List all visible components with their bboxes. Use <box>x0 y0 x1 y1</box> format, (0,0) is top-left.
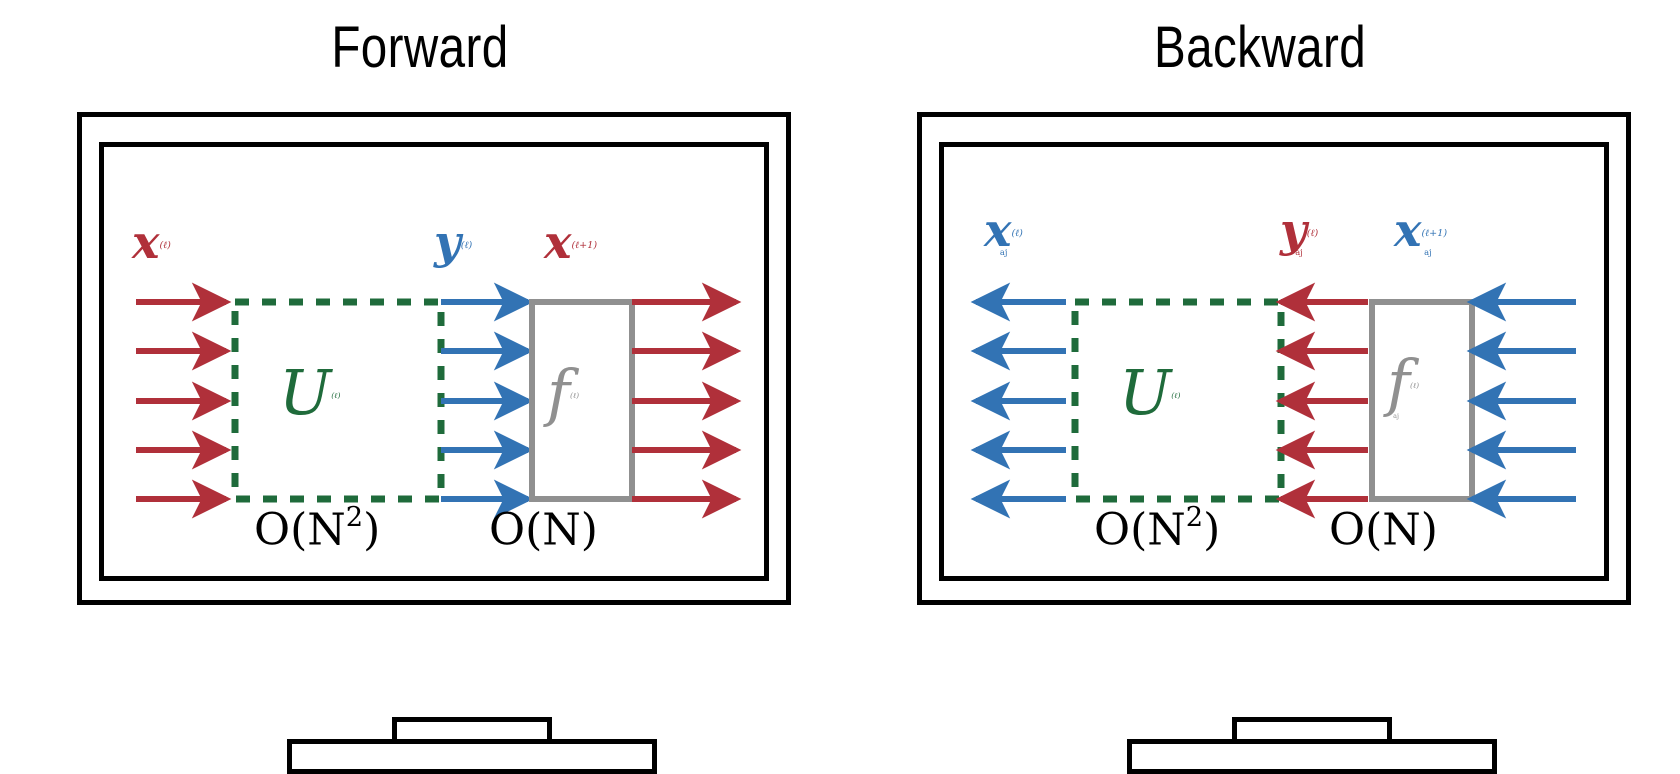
arrow-group-intermediate <box>441 302 528 499</box>
label-signal-output-forward: x(ℓ+1) <box>544 219 596 265</box>
label-signal-input-adjoint-backward: x(ℓ+1)aj <box>1394 207 1454 253</box>
monitor-backward: x(ℓ)aj y(ℓ)aj x(ℓ+1)aj U(ℓ) f(ℓ)aj <box>917 112 1631 605</box>
label-cost-unitary-backward: O(N2) <box>1094 507 1220 553</box>
panel-backward: Backward <box>840 0 1680 748</box>
label-unitary-backward: U(ℓ) <box>1119 362 1180 424</box>
arrow-group-input <box>136 302 226 499</box>
diagram-forward: x(ℓ) y(ℓ) x(ℓ+1) U(ℓ) f(ℓ) <box>104 147 764 576</box>
diagram-backward: x(ℓ)aj y(ℓ)aj x(ℓ+1)aj U(ℓ) f(ℓ)aj <box>944 147 1604 576</box>
label-signal-intermediate-forward: y(ℓ) <box>434 219 471 265</box>
panel-title-forward: Forward <box>76 16 765 80</box>
label-unitary-forward: U(ℓ) <box>279 362 340 424</box>
arrow-group-intermediate-adjoint <box>1281 302 1368 499</box>
panel-title-backward: Backward <box>916 16 1605 80</box>
label-signal-input-forward: x(ℓ) <box>132 219 170 265</box>
monitor-base <box>287 739 657 774</box>
monitor-forward: x(ℓ) y(ℓ) x(ℓ+1) U(ℓ) f(ℓ) <box>77 112 791 605</box>
monitor-base <box>1127 739 1497 774</box>
arrows-forward-svg <box>104 147 774 581</box>
label-signal-output-adjoint-backward: x(ℓ)aj <box>984 207 1029 253</box>
label-cost-activation-backward: O(N) <box>1329 507 1438 553</box>
monitor-screen: x(ℓ) y(ℓ) x(ℓ+1) U(ℓ) f(ℓ) <box>99 142 769 581</box>
arrow-group-input-adjoint <box>1472 302 1576 499</box>
figure-canvas: Forward <box>0 0 1680 748</box>
arrows-backward-svg <box>944 147 1614 581</box>
label-signal-intermediate-adjoint-backward: y(ℓ)aj <box>1280 207 1325 253</box>
label-activation-forward: f(ℓ) <box>547 362 579 424</box>
label-cost-unitary-forward: O(N2) <box>254 507 380 553</box>
label-cost-activation-forward: O(N) <box>489 507 598 553</box>
arrow-group-output-adjoint <box>976 302 1066 499</box>
panel-forward: Forward <box>0 0 840 748</box>
monitor-screen: x(ℓ)aj y(ℓ)aj x(ℓ+1)aj U(ℓ) f(ℓ)aj <box>939 142 1609 581</box>
arrow-group-output <box>632 302 736 499</box>
label-activation-backward: f(ℓ)aj <box>1387 352 1425 414</box>
